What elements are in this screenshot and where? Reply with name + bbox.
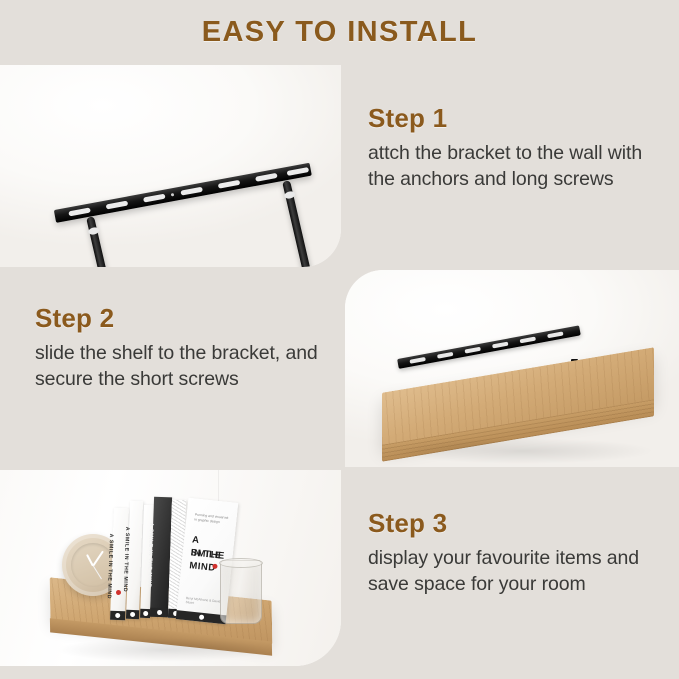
- bracket-slot: [106, 201, 129, 210]
- step-2-text: Step 2 slide the shelf to the bracket, a…: [35, 303, 335, 392]
- book-footer: Beryl McAlhone & David Stuart: [185, 596, 222, 608]
- step-1-image-panel: [0, 65, 341, 267]
- shelf-with-bracket-illustration: [345, 270, 679, 467]
- bracket-slot: [255, 173, 278, 182]
- step-2-body: slide the shelf to the bracket, and secu…: [35, 340, 335, 392]
- step-2-heading: Step 2: [35, 303, 335, 334]
- step-3-body: display your favourite items and save sp…: [368, 545, 673, 597]
- bracket-slot: [180, 187, 203, 196]
- bracket-center-mark: [171, 193, 174, 196]
- rod-screw: [87, 226, 99, 235]
- clock-minute-hand: [92, 550, 104, 566]
- bracket-slot: [143, 194, 166, 203]
- styled-shelf-illustration: A SMILE IN THE MIND A SMILE IN THE MIND …: [0, 470, 341, 666]
- bracket-slot: [437, 352, 453, 359]
- bracket-slot: [409, 357, 425, 364]
- step-3-heading: Step 3: [368, 508, 673, 539]
- clock-second-hand: [92, 565, 101, 579]
- bracket-slot: [492, 342, 508, 349]
- bracket-slot: [68, 207, 91, 216]
- wall-bracket-illustration: [0, 65, 341, 267]
- book-spine-band: [150, 608, 168, 618]
- step-1-text: Step 1 attch the bracket to the wall wit…: [368, 103, 668, 192]
- shelf-bracket-bar: [397, 325, 581, 369]
- step-1-heading: Step 1: [368, 103, 668, 134]
- book-spine-dot: [116, 590, 121, 595]
- step-3-text: Step 3 display your favourite items and …: [368, 508, 673, 597]
- bracket-slot: [547, 331, 563, 338]
- bracket-support-rod-left: [86, 216, 115, 267]
- bracket-slot: [464, 347, 480, 354]
- styled-shelf-shadow: [55, 638, 270, 662]
- step-1-body: attch the bracket to the wall with the a…: [368, 140, 668, 192]
- page-title: EASY TO INSTALL: [0, 16, 679, 49]
- bracket-support-rod-right: [282, 180, 311, 267]
- rod-screw: [283, 190, 295, 199]
- book-subtitle: Punning and visual wit in graphic design: [194, 512, 231, 526]
- shelf-shadow: [390, 438, 655, 464]
- bracket-bar: [54, 163, 312, 223]
- bracket-slot: [287, 167, 310, 176]
- bracket-slot: [520, 337, 536, 344]
- infographic-root: EASY TO INSTALL Step 1: [0, 0, 679, 679]
- step-2-image-panel: [345, 270, 679, 467]
- book-spine-band: [126, 610, 139, 619]
- bracket-slot: [218, 180, 241, 189]
- glass-vase: [220, 560, 262, 624]
- vase-rim: [219, 558, 263, 568]
